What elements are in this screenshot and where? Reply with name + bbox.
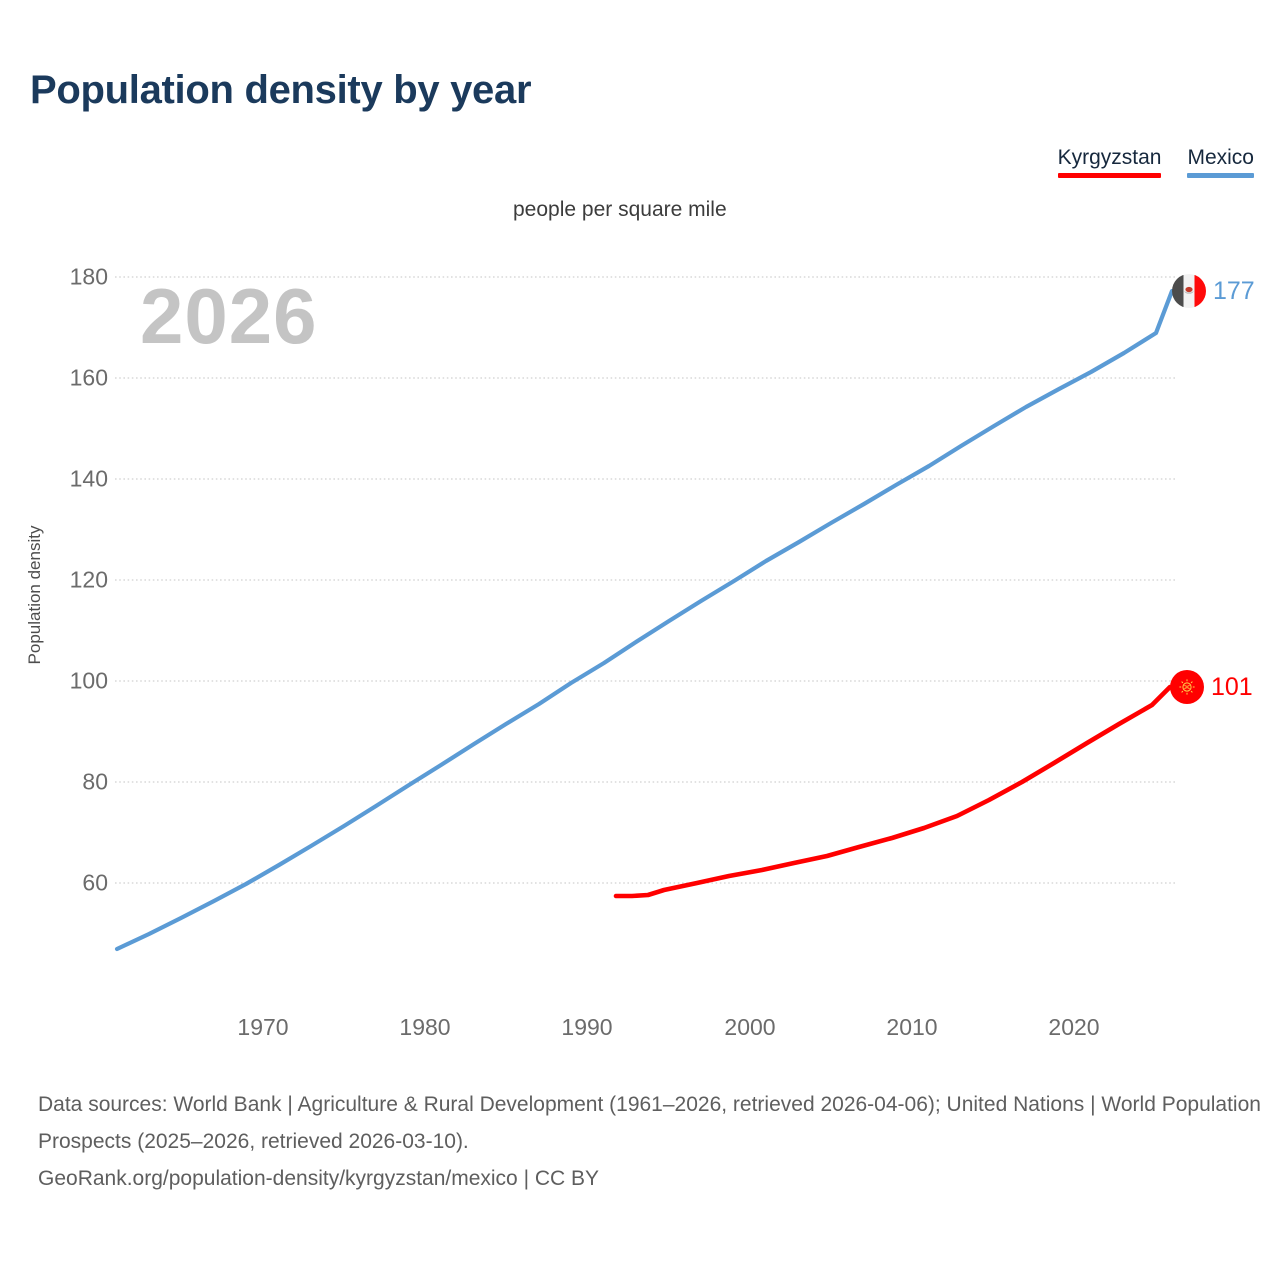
y-axis-title: Population density <box>25 505 45 685</box>
y-tick-120: 120 <box>70 567 108 594</box>
footer-attribution: GeoRank.org/population-density/kyrgyzsta… <box>38 1160 1262 1197</box>
end-value-kyrgyzstan: 101 <box>1211 673 1253 702</box>
x-tick-2000: 2000 <box>724 1014 775 1041</box>
y-tick-80: 80 <box>82 769 108 796</box>
y-tick-140: 140 <box>70 466 108 493</box>
chart-page: Population density by year Kyrgyzstan Me… <box>0 0 1280 1280</box>
year-watermark: 2026 <box>140 277 318 355</box>
end-marker-kyrgyzstan[interactable]: 101 <box>1170 670 1253 704</box>
end-marker-mexico[interactable]: 177 <box>1172 274 1255 308</box>
footer: Data sources: World Bank | Agriculture &… <box>38 1086 1262 1197</box>
y-axis-ticks: 180 160 140 120 100 80 60 <box>0 0 108 1060</box>
series-line-kyrgyzstan <box>616 687 1170 896</box>
x-tick-2020: 2020 <box>1048 1014 1099 1041</box>
y-tick-100: 100 <box>70 668 108 695</box>
x-tick-1980: 1980 <box>399 1014 450 1041</box>
x-tick-1970: 1970 <box>237 1014 288 1041</box>
mexico-flag-icon <box>1172 274 1206 308</box>
x-tick-1990: 1990 <box>561 1014 612 1041</box>
y-tick-160: 160 <box>70 365 108 392</box>
plot-area: 180 160 140 120 100 80 60 Population den… <box>0 0 1280 1060</box>
footer-data-sources: Data sources: World Bank | Agriculture &… <box>38 1086 1262 1160</box>
end-value-mexico: 177 <box>1213 277 1255 306</box>
chart-svg <box>0 0 1280 1060</box>
series-line-mexico <box>117 291 1172 949</box>
mexico-eagle-emblem-icon <box>1182 286 1196 297</box>
y-tick-60: 60 <box>82 870 108 897</box>
gridlines <box>115 277 1175 883</box>
kyrgyzstan-sun-emblem-icon <box>1178 678 1196 696</box>
y-tick-180: 180 <box>70 264 108 291</box>
x-tick-2010: 2010 <box>886 1014 937 1041</box>
kyrgyzstan-flag-icon <box>1170 670 1204 704</box>
